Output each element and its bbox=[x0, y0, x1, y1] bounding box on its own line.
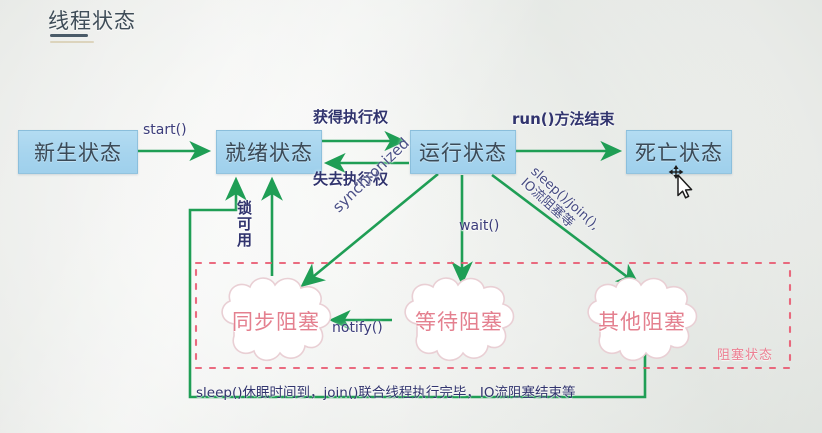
title-underline-secondary bbox=[50, 41, 94, 43]
bottom-return-note: sleep()休眠时间到，join()联合线程执行完毕，IO流阻塞结束等 bbox=[196, 381, 575, 401]
state-label: 就绪状态 bbox=[225, 137, 313, 167]
state-box-ready[interactable]: 就绪状态 bbox=[216, 130, 322, 174]
blocked-zone-label: 阻塞状态 bbox=[717, 344, 773, 363]
diagram-canvas: 线程状态 bbox=[0, 0, 822, 433]
edge-label-notify: notify() bbox=[332, 320, 383, 336]
page-title: 线程状态 bbox=[48, 5, 136, 35]
edge-label-acquire: 获得执行权 bbox=[313, 106, 388, 127]
state-box-dead[interactable]: 死亡状态 bbox=[626, 130, 732, 174]
state-box-new[interactable]: 新生状态 bbox=[18, 130, 138, 174]
title-underline bbox=[50, 34, 88, 37]
state-label: 新生状态 bbox=[34, 137, 122, 167]
state-box-running[interactable]: 运行状态 bbox=[410, 130, 516, 174]
cloud-other-blocked[interactable]: 其他阻塞 bbox=[576, 272, 708, 370]
edge-label-run-end: run()方法结束 bbox=[512, 108, 614, 129]
cloud-wait-blocked[interactable]: 等待阻塞 bbox=[393, 272, 525, 370]
cloud-sync-blocked[interactable]: 同步阻塞 bbox=[210, 272, 342, 370]
edge-label-start: start() bbox=[143, 122, 187, 138]
edge-label-wait: wait() bbox=[459, 218, 499, 234]
cloud-label: 其他阻塞 bbox=[598, 306, 686, 336]
cloud-label: 同步阻塞 bbox=[232, 306, 320, 336]
state-label: 运行状态 bbox=[419, 137, 507, 167]
state-label: 死亡状态 bbox=[635, 137, 723, 167]
edge-run-to-sync bbox=[303, 174, 438, 285]
edge-label-lock-available: 锁可用 bbox=[236, 200, 251, 248]
cloud-label: 等待阻塞 bbox=[415, 306, 503, 336]
